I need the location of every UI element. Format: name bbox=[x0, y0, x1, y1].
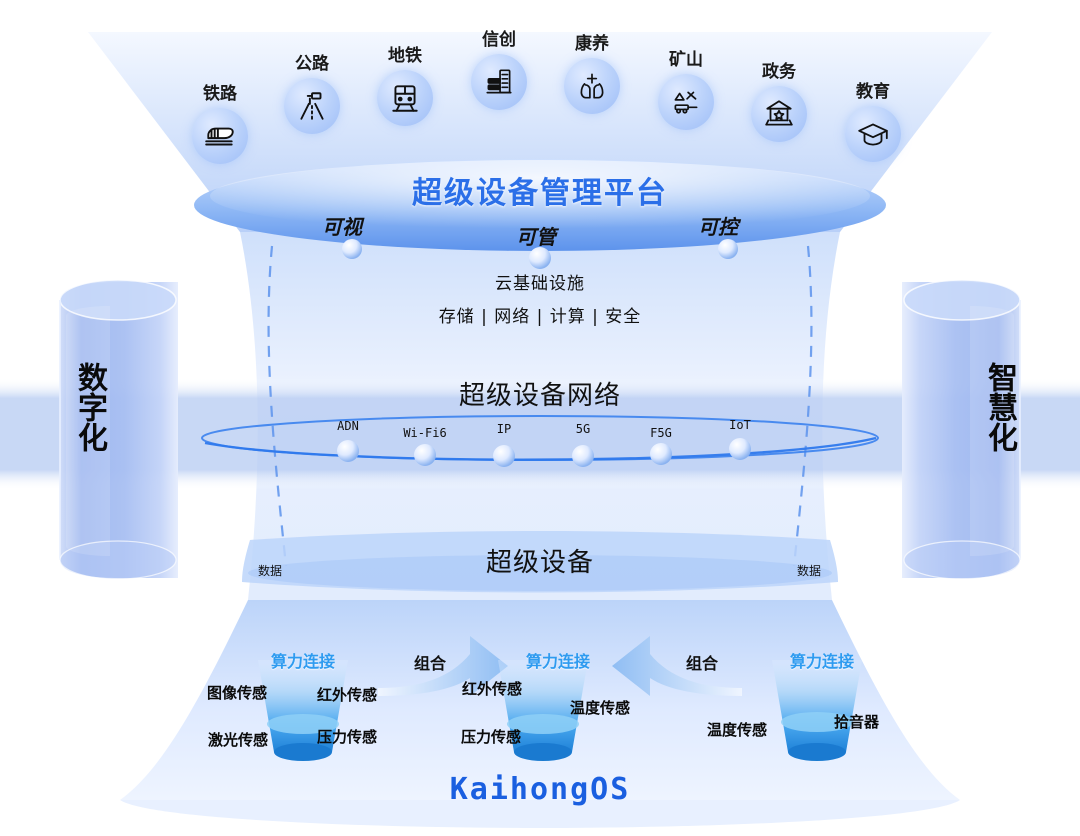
domain-label: 地铁 bbox=[377, 48, 433, 65]
data-label-left: 数据 bbox=[258, 562, 282, 579]
domain-item-government[interactable]: 政务 bbox=[751, 64, 807, 142]
network-node-label-f5g: F5G bbox=[650, 426, 672, 440]
sensor-label: 拾音器 bbox=[834, 711, 879, 732]
care-hands-icon bbox=[564, 58, 620, 114]
left-pillar-label: 数字化 bbox=[68, 362, 108, 452]
network-title: 超级设备网络 bbox=[0, 375, 1080, 412]
highway-icon bbox=[284, 78, 340, 134]
sensor-label: 图像传感 bbox=[207, 682, 267, 703]
network-node-label-5g: 5G bbox=[576, 422, 590, 436]
architecture-diagram: 铁路 公路 地铁 bbox=[0, 0, 1080, 836]
sensor-label: 激光传感 bbox=[208, 729, 268, 750]
sensor-label: 压力传感 bbox=[317, 726, 377, 747]
train-icon bbox=[192, 108, 248, 164]
domain-label: 政务 bbox=[751, 64, 807, 81]
domain-item-healthcare[interactable]: 康养 bbox=[564, 36, 620, 114]
network-node-label-iot: IoT bbox=[729, 418, 751, 432]
domain-item-metro[interactable]: 地铁 bbox=[377, 48, 433, 126]
government-icon bbox=[751, 86, 807, 142]
cloud-infrastructure: 云基础设施 存储 | 网络 | 计算 | 安全 bbox=[0, 269, 1080, 327]
sensor-label: 温度传感 bbox=[570, 697, 630, 718]
device-layer-title: 超级设备 bbox=[0, 542, 1080, 579]
brand-logo: KaihongOS bbox=[0, 772, 1080, 807]
data-label-right: 数据 bbox=[797, 562, 821, 579]
domain-item-education[interactable]: 教育 bbox=[845, 84, 901, 162]
capability-manageable: 可管 bbox=[516, 221, 556, 250]
mining-icon bbox=[658, 74, 714, 130]
sensor-label: 温度传感 bbox=[707, 719, 767, 740]
page-title: 超级设备管理平台 bbox=[0, 168, 1080, 212]
domain-item-mining[interactable]: 矿山 bbox=[658, 52, 714, 130]
combine-label-2: 组合 bbox=[686, 650, 718, 674]
cup-title-3: 算力连接 bbox=[790, 648, 854, 672]
cup-title-2: 算力连接 bbox=[526, 648, 590, 672]
cup-title-1: 算力连接 bbox=[271, 648, 335, 672]
domain-item-railway[interactable]: 铁路 bbox=[192, 86, 248, 164]
sensor-label: 压力传感 bbox=[461, 726, 521, 747]
sensor-label: 红外传感 bbox=[462, 678, 522, 699]
combine-label-1: 组合 bbox=[414, 650, 446, 674]
domain-item-xinchuang[interactable]: 信创 bbox=[471, 32, 527, 110]
background-shapes bbox=[0, 0, 1080, 836]
domain-label: 矿山 bbox=[658, 52, 714, 69]
sensor-label: 红外传感 bbox=[317, 684, 377, 705]
network-node-label-wifi6: Wi-Fi6 bbox=[403, 426, 446, 440]
domain-label: 公路 bbox=[284, 56, 340, 73]
capability-controllable: 可控 bbox=[698, 211, 738, 240]
building-icon bbox=[471, 54, 527, 110]
graduation-cap-icon bbox=[845, 106, 901, 162]
network-node-label-ip: IP bbox=[497, 422, 511, 436]
domain-label: 信创 bbox=[471, 32, 527, 49]
domain-label: 教育 bbox=[845, 84, 901, 101]
capability-visible: 可视 bbox=[322, 211, 362, 240]
right-pillar-label: 智慧化 bbox=[978, 362, 1018, 452]
cloud-items: 存储 | 网络 | 计算 | 安全 bbox=[0, 302, 1080, 327]
network-node-label-adn: ADN bbox=[337, 419, 359, 433]
domain-label: 铁路 bbox=[192, 86, 248, 103]
domain-label: 康养 bbox=[564, 36, 620, 53]
metro-icon bbox=[377, 70, 433, 126]
cloud-title: 云基础设施 bbox=[0, 269, 1080, 294]
domain-item-highway[interactable]: 公路 bbox=[284, 56, 340, 134]
